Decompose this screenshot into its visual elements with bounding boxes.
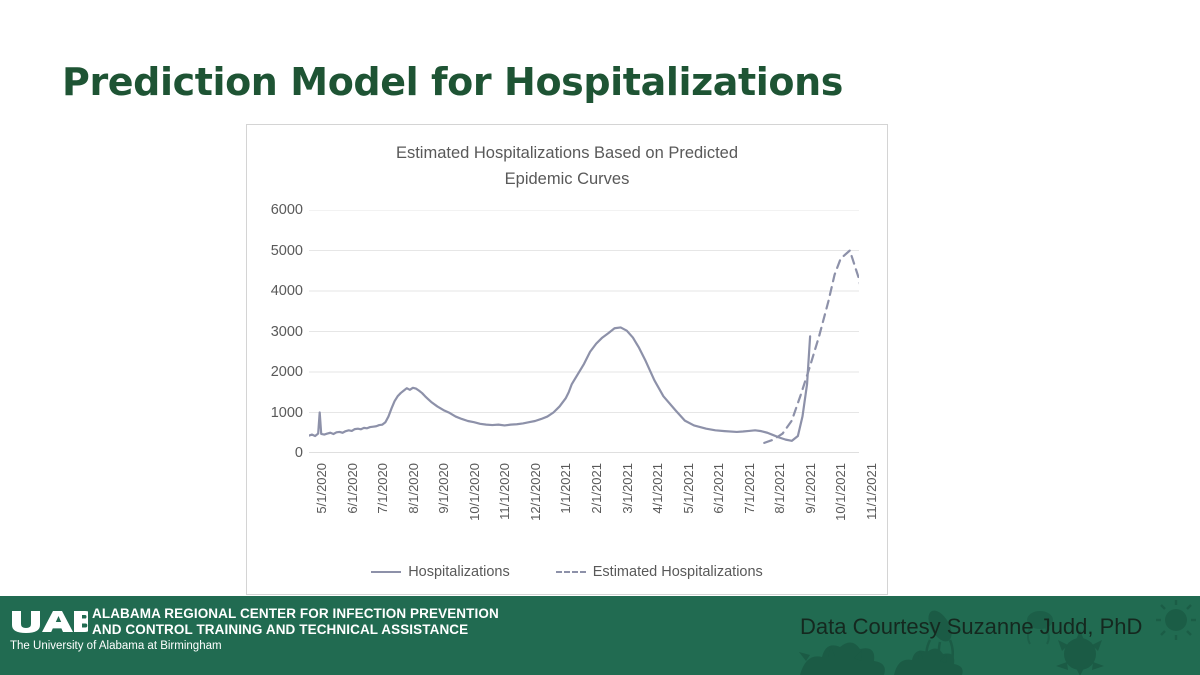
- y-axis-tick-label: 3000: [249, 324, 303, 340]
- series-lines: [309, 251, 859, 443]
- chart-legend: Hospitalizations Estimated Hospitalizati…: [247, 564, 887, 580]
- x-axis-tick-label: 2/1/2021: [589, 463, 604, 514]
- legend-item-estimated-hospitalizations: Estimated Hospitalizations: [556, 564, 763, 580]
- x-axis-tick-label: 12/1/2020: [528, 463, 543, 521]
- x-axis-tick-label: 9/1/2021: [803, 463, 818, 514]
- legend-label: Estimated Hospitalizations: [593, 564, 763, 580]
- x-axis-tick-label: 6/1/2020: [345, 463, 360, 514]
- chart-plot-svg: [309, 210, 859, 453]
- x-axis-tick-label: 11/1/2021: [864, 463, 879, 520]
- center-name-label: ALABAMA REGIONAL CENTER FOR INFECTION PR…: [92, 606, 499, 637]
- x-axis-tick-labels: 5/1/20206/1/20207/1/20208/1/20209/1/2020…: [309, 457, 859, 567]
- x-axis-tick-label: 5/1/2021: [681, 463, 696, 514]
- y-axis-tick-label: 2000: [249, 364, 303, 380]
- data-credit-label: Data Courtesy Suzanne Judd, PhD: [800, 614, 1142, 640]
- legend-label: Hospitalizations: [408, 564, 510, 580]
- x-axis-tick-label: 8/1/2020: [406, 463, 421, 514]
- plot-area: [309, 210, 859, 453]
- x-axis-tick-label: 10/1/2021: [833, 463, 848, 521]
- x-axis-tick-label: 4/1/2021: [650, 463, 665, 514]
- uab-logo-icon: [10, 608, 88, 634]
- x-axis-tick-label: 11/1/2020: [497, 463, 512, 520]
- x-axis-tick-label: 3/1/2021: [620, 463, 635, 514]
- series-line: [309, 327, 810, 440]
- gridlines: [309, 210, 859, 453]
- x-axis-tick-label: 7/1/2021: [742, 463, 757, 514]
- university-name-label: The University of Alabama at Birmingham: [10, 640, 222, 652]
- legend-line-dashed-icon: [556, 571, 586, 573]
- y-axis-tick-label: 5000: [249, 243, 303, 259]
- y-axis-tick-label: 0: [249, 445, 303, 461]
- series-line: [764, 251, 859, 443]
- chart-title-line-1: Estimated Hospitalizations Based on Pred…: [247, 140, 887, 166]
- x-axis-tick-label: 9/1/2020: [436, 463, 451, 514]
- legend-line-solid-icon: [371, 571, 401, 573]
- footer-bar: ALABAMA REGIONAL CENTER FOR INFECTION PR…: [0, 596, 1200, 675]
- y-axis-tick-label: 4000: [249, 283, 303, 299]
- y-axis-tick-label: 6000: [249, 202, 303, 218]
- x-axis-tick-label: 6/1/2021: [711, 463, 726, 514]
- x-axis-tick-label: 5/1/2020: [314, 463, 329, 514]
- chart-title: Estimated Hospitalizations Based on Pred…: [247, 140, 887, 192]
- y-axis-tick-labels: 0100020003000400050006000: [247, 210, 303, 453]
- x-axis-tick-label: 10/1/2020: [467, 463, 482, 521]
- legend-item-hospitalizations: Hospitalizations: [371, 564, 510, 580]
- chart-title-line-2: Epidemic Curves: [247, 166, 887, 192]
- page-title: Prediction Model for Hospitalizations: [62, 58, 1062, 106]
- chart-container: Estimated Hospitalizations Based on Pred…: [246, 124, 888, 595]
- x-axis-tick-label: 7/1/2020: [375, 463, 390, 514]
- x-axis-tick-label: 8/1/2021: [772, 463, 787, 514]
- y-axis-tick-label: 1000: [249, 405, 303, 421]
- x-axis-tick-label: 1/1/2021: [558, 463, 573, 514]
